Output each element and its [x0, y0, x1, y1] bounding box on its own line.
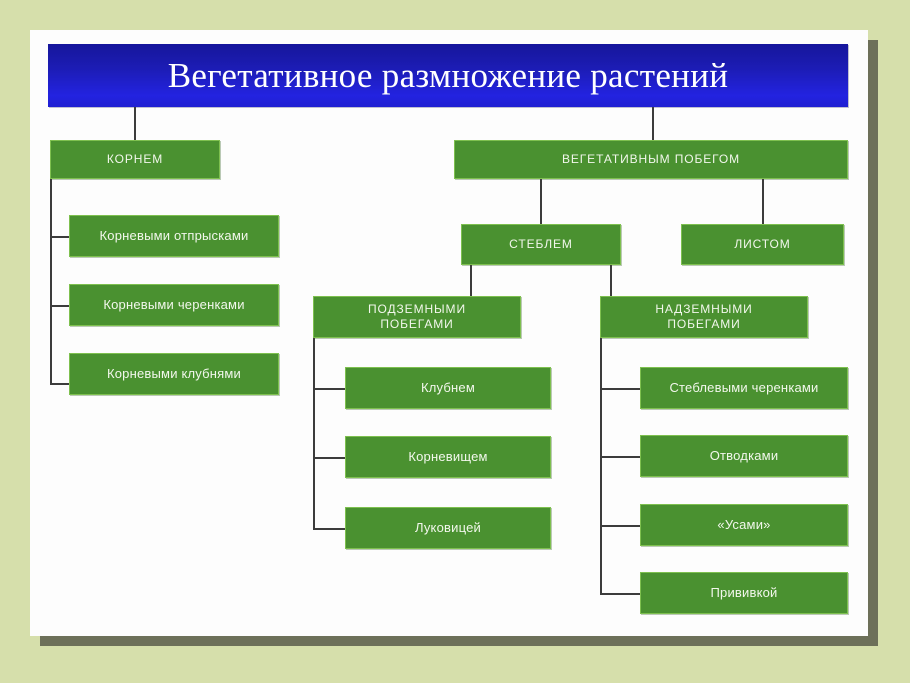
node-vegetativnym-pobegom[interactable]: ВЕГЕТАТИВНЫМ ПОБЕГОМ — [454, 140, 848, 179]
connector-podzemnymi-stub-2 — [313, 457, 346, 459]
connector-steblem-to-podzemnymi — [470, 265, 472, 296]
node-kornevymi-cherenkami-label: Корневыми черенками — [103, 297, 244, 313]
node-kornevishchem[interactable]: Корневищем — [345, 436, 551, 478]
connector-podzemnymi-stub-1 — [313, 388, 346, 390]
page-title: Вегетативное размножение растений — [168, 58, 729, 93]
connector-kornem-stub-1 — [50, 236, 70, 238]
connector-vegetativnym-to-steblem — [540, 179, 542, 224]
node-steblem[interactable]: СТЕБЛЕМ — [461, 224, 621, 265]
node-podzemnymi-pobegami[interactable]: ПОДЗЕМНЫМИ ПОБЕГАМИ — [313, 296, 521, 338]
node-steblevymi-cherenkami-label: Стеблевыми черенками — [669, 380, 818, 396]
node-podzemnymi-pobegami-label: ПОДЗЕМНЫМИ ПОБЕГАМИ — [368, 302, 466, 332]
connector-root-to-kornem — [134, 107, 136, 140]
node-lukovicej[interactable]: Луковицей — [345, 507, 551, 549]
node-kornevymi-cherenkami[interactable]: Корневыми черенками — [69, 284, 279, 326]
connector-podzemnymi-trunk — [313, 338, 315, 530]
node-nadzemnymi-pobegami[interactable]: НАДЗЕМНЫМИ ПОБЕГАМИ — [600, 296, 808, 338]
node-klubnem[interactable]: Клубнем — [345, 367, 551, 409]
node-listom[interactable]: ЛИСТОМ — [681, 224, 844, 265]
connector-nadzemnymi-stub-4 — [600, 593, 641, 595]
node-nadzemnymi-pobegami-label: НАДЗЕМНЫМИ ПОБЕГАМИ — [655, 302, 752, 332]
connector-nadzemnymi-stub-1 — [600, 388, 641, 390]
node-kornevishchem-label: Корневищем — [408, 449, 487, 465]
connector-podzemnymi-stub-3 — [313, 528, 346, 530]
node-steblem-label: СТЕБЛЕМ — [509, 237, 573, 252]
connector-kornem-stub-3 — [50, 383, 70, 385]
node-usami-label: «Усами» — [717, 517, 770, 533]
node-lukovicej-label: Луковицей — [415, 520, 481, 536]
connector-kornem-stub-2 — [50, 305, 70, 307]
node-klubnem-label: Клубнем — [421, 380, 475, 396]
node-otvodkami[interactable]: Отводками — [640, 435, 848, 477]
connector-nadzemnymi-stub-2 — [600, 456, 641, 458]
node-kornevymi-klubnyami[interactable]: Корневыми клубнями — [69, 353, 279, 395]
connector-vegetativnym-to-listom — [762, 179, 764, 224]
node-kornevymi-otpryskami-label: Корневыми отпрысками — [100, 228, 249, 244]
connector-nadzemnymi-stub-3 — [600, 525, 641, 527]
connector-steblem-to-nadzemnymi — [610, 265, 612, 296]
node-otvodkami-label: Отводками — [710, 448, 779, 464]
node-kornevymi-otpryskami[interactable]: Корневыми отпрысками — [69, 215, 279, 257]
slide-canvas: Вегетативное размножение растений КОРНЕМ… — [0, 0, 910, 683]
title-banner: Вегетативное размножение растений — [48, 44, 848, 107]
node-steblevymi-cherenkami[interactable]: Стеблевыми черенками — [640, 367, 848, 409]
node-usami[interactable]: «Усами» — [640, 504, 848, 546]
node-kornem[interactable]: КОРНЕМ — [50, 140, 220, 179]
node-listom-label: ЛИСТОМ — [734, 237, 790, 252]
node-vegetativnym-pobegom-label: ВЕГЕТАТИВНЫМ ПОБЕГОМ — [562, 152, 740, 167]
node-kornem-label: КОРНЕМ — [107, 152, 163, 167]
node-kornevymi-klubnyami-label: Корневыми клубнями — [107, 366, 241, 382]
node-privivkoj-label: Прививкой — [710, 585, 777, 601]
connector-root-to-vegetativnym-pobegom — [652, 107, 654, 140]
connector-nadzemnymi-trunk — [600, 338, 602, 595]
connector-kornem-trunk — [50, 179, 52, 385]
node-privivkoj[interactable]: Прививкой — [640, 572, 848, 614]
